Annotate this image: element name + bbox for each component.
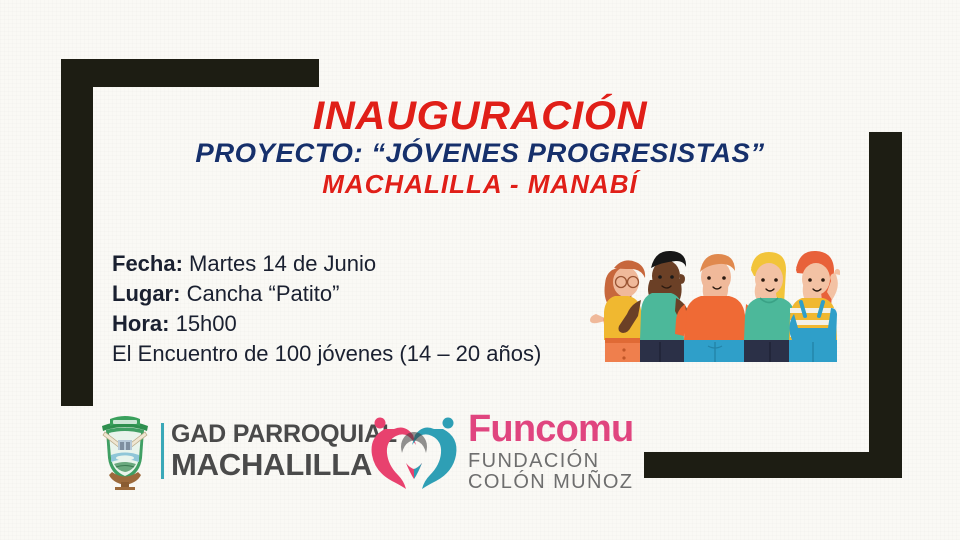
group-of-young-people-illustration xyxy=(588,230,840,362)
title-location: MACHALILLA - MANABÍ xyxy=(0,171,960,197)
poster-slide: INAUGURACIÓN PROYECTO: “JÓVENES PROGRESI… xyxy=(0,0,960,540)
detail-value-hora: 15h00 xyxy=(176,311,237,336)
detail-row-hora: Hora: 15h00 xyxy=(112,309,541,339)
logo-funcomu: Funcomu FUNDACIÓN COLÓN MUÑOZ xyxy=(368,410,633,492)
title-block: INAUGURACIÓN PROYECTO: “JÓVENES PROGRESI… xyxy=(0,96,960,197)
detail-row-lugar: Lugar: Cancha “Patito” xyxy=(112,279,541,309)
funcomu-heart-people-logo-icon xyxy=(368,411,460,491)
detail-value-encuentro: El Encuentro de 100 jóvenes (14 – 20 año… xyxy=(112,341,541,366)
detail-label-hora: Hora: xyxy=(112,311,169,336)
title-subtitle: PROYECTO: “JÓVENES PROGRESISTAS” xyxy=(0,140,960,167)
gad-wordmark: GAD PARROQUIAL MACHALILLA xyxy=(171,422,397,480)
frame-bracket-top-left-horizontal xyxy=(61,59,319,87)
funcomu-subline-2: COLÓN MUÑOZ xyxy=(468,472,633,492)
funcomu-name: Funcomu xyxy=(468,410,633,448)
title-main: INAUGURACIÓN xyxy=(0,96,960,136)
logo-gad-parroquial: GAD PARROQUIAL MACHALILLA xyxy=(96,412,397,490)
funcomu-wordmark: Funcomu FUNDACIÓN COLÓN MUÑOZ xyxy=(468,410,633,492)
gad-line-2: MACHALILLA xyxy=(171,449,397,480)
gad-divider-rule xyxy=(161,423,164,479)
detail-value-fecha: Martes 14 de Junio xyxy=(189,251,376,276)
machalilla-coat-of-arms-icon xyxy=(96,412,154,490)
detail-label-lugar: Lugar: xyxy=(112,281,180,306)
funcomu-subline-1: FUNDACIÓN xyxy=(468,451,633,471)
detail-row-fecha: Fecha: Martes 14 de Junio xyxy=(112,249,541,279)
frame-bracket-bottom-right-horizontal xyxy=(644,452,902,478)
gad-line-1: GAD PARROQUIAL xyxy=(171,422,397,447)
detail-label-fecha: Fecha: xyxy=(112,251,183,276)
detail-row-encuentro: El Encuentro de 100 jóvenes (14 – 20 año… xyxy=(112,339,541,369)
detail-value-lugar: Cancha “Patito” xyxy=(187,281,340,306)
event-details: Fecha: Martes 14 de Junio Lugar: Cancha … xyxy=(112,249,541,369)
